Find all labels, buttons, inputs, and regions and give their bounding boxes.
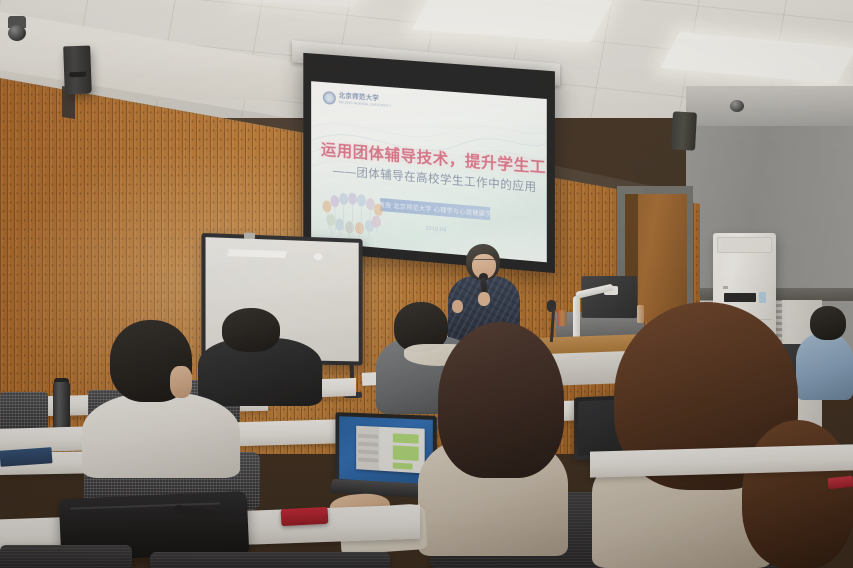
chair[interactable] [150,552,390,568]
chat-contact-item[interactable] [358,434,379,439]
chat-contact-item[interactable] [358,450,379,455]
glasses-icon [473,259,496,264]
presenter-hand-right [478,292,490,306]
chat-message-bubble [393,462,413,469]
chat-contact-list[interactable] [356,426,379,471]
pen-holder[interactable] [557,310,567,326]
attendee-head [222,308,280,352]
circle-of-hands-illustration [321,189,394,241]
attendee-ear-cheek [170,366,192,398]
lecture-room-photo: 北京师范大学 BEIJING NORMAL UNIVERSITY 运用团体辅导技… [0,0,853,568]
whiteboard-glare [227,249,287,258]
air-conditioner-display [724,293,756,302]
whiteboard-glare [314,253,323,260]
wall-speaker-right [671,111,697,150]
air-conditioner-indicator [759,292,766,303]
air-conditioner-logo [723,286,728,289]
wall-speaker-left [63,46,92,95]
chat-message-bubble [393,433,419,443]
university-emblem-icon [323,91,336,105]
chat-contact-item[interactable] [358,442,379,447]
air-conditioner-grille [717,237,772,253]
chat-message-bubble [393,445,419,461]
chat-contact-item[interactable] [358,457,379,462]
chat-application-window[interactable] [356,426,425,474]
attendee-head-hair [438,322,564,478]
attendee-head-hair-edge [742,420,853,568]
attendee-torso [796,334,853,400]
attendee-head [810,306,846,340]
water-bottle[interactable] [637,305,644,323]
attendee-torso [82,392,240,478]
red-smartphone[interactable] [281,507,329,526]
podium-monitor[interactable] [581,276,636,318]
grey-wall-upper-band [686,86,853,126]
dome-security-camera-icon [8,25,26,41]
chair[interactable] [0,545,132,568]
dome-security-camera-icon [730,100,744,112]
presenter-hand-left [452,300,463,313]
whiteboard-clip [244,233,255,239]
